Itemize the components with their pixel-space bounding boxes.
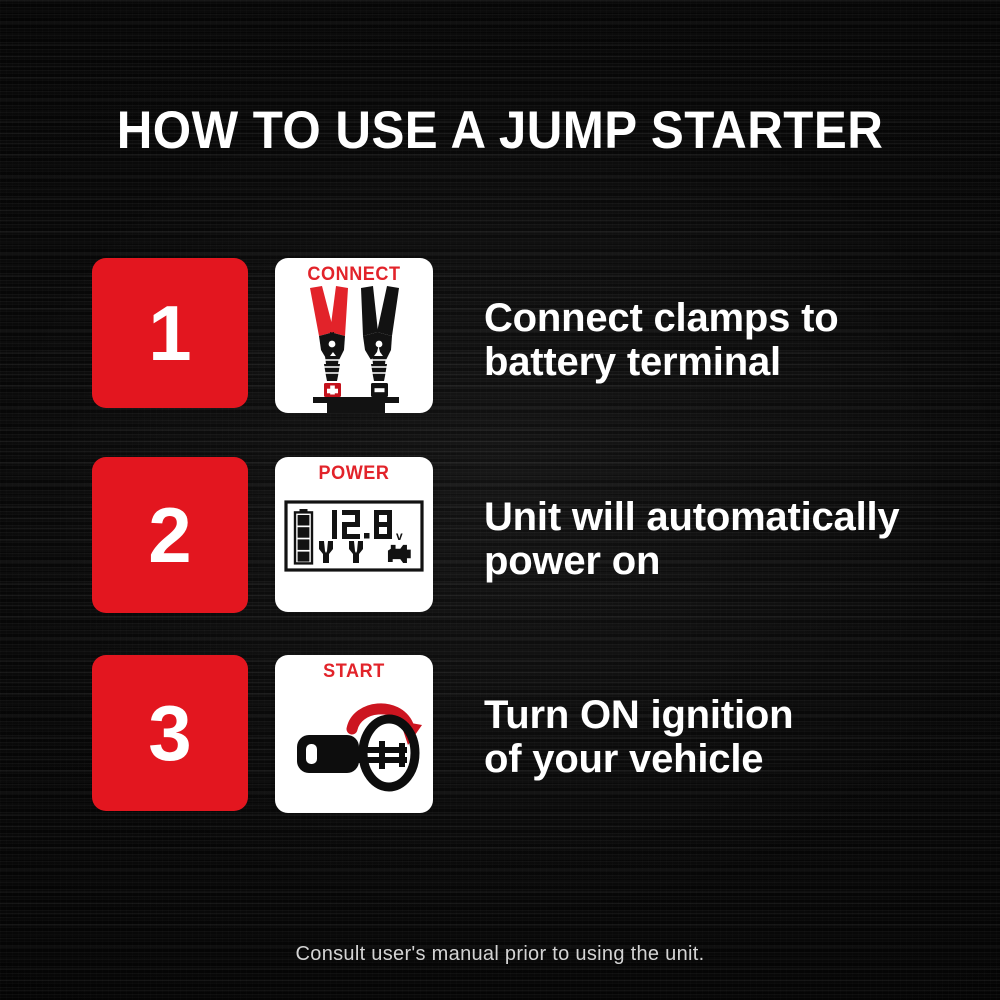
step-item: 2 POWER <box>92 457 952 622</box>
step-item: 3 START <box>92 655 952 820</box>
step-icon-card: START <box>275 655 433 813</box>
battery-clamps-icon <box>275 284 433 413</box>
icon-label: POWER <box>279 464 429 483</box>
step-line-1: Connect clamps to <box>484 296 838 341</box>
step-number-badge: 2 <box>92 457 248 613</box>
step-number-badge: 3 <box>92 655 248 811</box>
icon-label: START <box>279 662 429 681</box>
step-number-badge: 1 <box>92 258 248 408</box>
step-line-1: Unit will automatically <box>484 495 899 540</box>
step-icon-card: POWER <box>275 457 433 612</box>
step-item: 1 CONNECT <box>92 258 952 423</box>
lcd-display-icon: v <box>275 483 433 612</box>
footer-note: Consult user's manual prior to using the… <box>0 943 1000 966</box>
ignition-key-icon <box>275 681 433 810</box>
step-line-2: power on <box>484 540 899 585</box>
step-description: Connect clamps to battery terminal <box>484 296 838 386</box>
infographic-poster: HOW TO USE A JUMP STARTER 1 CONNECT <box>0 0 1000 1000</box>
step-icon-card: CONNECT <box>275 258 433 413</box>
step-description: Turn ON ignition of your vehicle <box>484 693 793 783</box>
step-description: Unit will automatically power on <box>484 495 899 585</box>
step-line-2: battery terminal <box>484 341 838 386</box>
icon-label: CONNECT <box>279 265 429 284</box>
step-line-2: of your vehicle <box>484 738 793 783</box>
step-line-1: Turn ON ignition <box>484 693 793 738</box>
svg-text:v: v <box>396 529 403 543</box>
steps-list: 1 CONNECT <box>0 0 1000 1000</box>
